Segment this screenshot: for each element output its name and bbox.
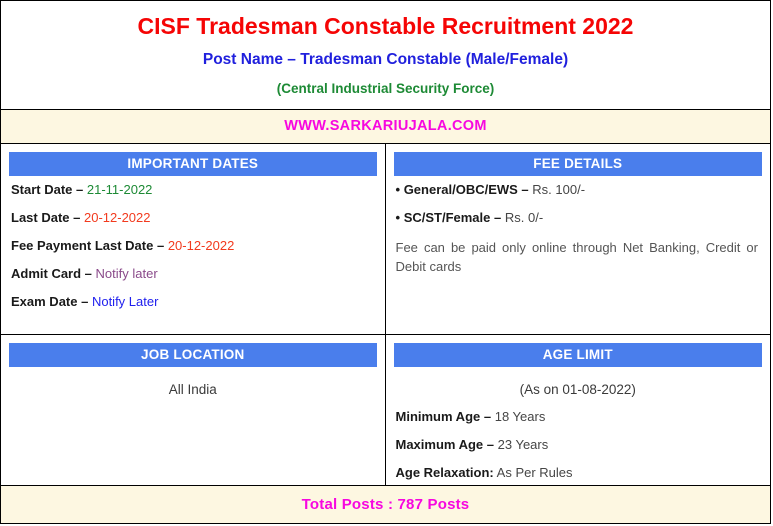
website-url-text: WWW.SARKARIUJALA.COM	[284, 118, 487, 134]
list-item: Minimum Age – 18 Years	[396, 409, 761, 425]
fee-details-heading: FEE DETAILS	[394, 152, 763, 176]
post-name-subtitle: Post Name – Tradesman Constable (Male/Fe…	[7, 49, 764, 71]
exam-date-value: Notify Later	[92, 294, 158, 309]
fee-details-body: • General/OBC/EWS – Rs. 100/- • SC/ST/Fe…	[394, 176, 763, 276]
admit-card-value: Notify later	[96, 266, 158, 281]
poster-header: CISF Tradesman Constable Recruitment 202…	[1, 1, 770, 110]
bullet-icon: •	[396, 210, 401, 225]
important-dates-body: Start Date – 21-11-2022 Last Date – 20-1…	[9, 176, 377, 310]
important-dates-heading: IMPORTANT DATES	[9, 152, 377, 176]
age-limit-cell: AGE LIMIT (As on 01-08-2022) Minimum Age…	[386, 335, 771, 485]
fee-details-cell: FEE DETAILS • General/OBC/EWS – Rs. 100/…	[386, 144, 771, 334]
list-item: Last Date – 20-12-2022	[11, 210, 375, 226]
maximum-age-label: Maximum Age –	[396, 437, 495, 452]
list-item: Start Date – 21-11-2022	[11, 182, 375, 198]
minimum-age-label: Minimum Age –	[396, 409, 492, 424]
website-banner: WWW.SARKARIUJALA.COM	[1, 110, 770, 144]
last-date-label: Last Date –	[11, 210, 80, 225]
job-location-body: All India	[9, 367, 377, 399]
age-relaxation-label: Age Relaxation:	[396, 465, 494, 480]
age-limit-heading: AGE LIMIT	[394, 343, 763, 367]
fee-payment-note: Fee can be paid only online through Net …	[396, 238, 761, 276]
page-title: CISF Tradesman Constable Recruitment 202…	[7, 11, 764, 41]
exam-date-label: Exam Date –	[11, 294, 88, 309]
age-limit-as-on-date: (As on 01-08-2022)	[396, 381, 761, 399]
reserved-fee-value: Rs. 0/-	[505, 210, 543, 225]
general-fee-label: General/OBC/EWS –	[404, 182, 529, 197]
info-row-bottom: JOB LOCATION All India AGE LIMIT (As on …	[1, 335, 770, 486]
age-limit-body: (As on 01-08-2022) Minimum Age – 18 Year…	[394, 367, 763, 481]
department-subtitle: (Central Industrial Security Force)	[7, 79, 764, 99]
fee-payment-last-date-label: Fee Payment Last Date –	[11, 238, 164, 253]
start-date-value: 21-11-2022	[87, 182, 153, 197]
total-posts-text: Total Posts : 787 Posts	[302, 496, 470, 513]
age-relaxation-value: As Per Rules	[497, 465, 573, 480]
recruitment-notice-poster: CISF Tradesman Constable Recruitment 202…	[0, 0, 771, 524]
job-location-cell: JOB LOCATION All India	[1, 335, 386, 485]
last-date-value: 20-12-2022	[84, 210, 151, 225]
info-row-top: IMPORTANT DATES Start Date – 21-11-2022 …	[1, 144, 770, 335]
admit-card-label: Admit Card –	[11, 266, 92, 281]
fee-payment-last-date-value: 20-12-2022	[168, 238, 235, 253]
general-fee-value: Rs. 100/-	[532, 182, 585, 197]
job-location-value: All India	[11, 381, 375, 399]
list-item: • General/OBC/EWS – Rs. 100/-	[396, 182, 761, 198]
start-date-label: Start Date –	[11, 182, 83, 197]
bullet-icon: •	[396, 182, 401, 197]
list-item: Maximum Age – 23 Years	[396, 437, 761, 453]
list-item: Age Relaxation: As Per Rules	[396, 465, 761, 481]
job-location-heading: JOB LOCATION	[9, 343, 377, 367]
maximum-age-value: 23 Years	[498, 437, 549, 452]
list-item: Exam Date – Notify Later	[11, 294, 375, 310]
list-item: • SC/ST/Female – Rs. 0/-	[396, 210, 761, 226]
list-item: Fee Payment Last Date – 20-12-2022	[11, 238, 375, 254]
minimum-age-value: 18 Years	[495, 409, 546, 424]
list-item: Admit Card – Notify later	[11, 266, 375, 282]
total-posts-banner: Total Posts : 787 Posts	[1, 486, 770, 523]
important-dates-cell: IMPORTANT DATES Start Date – 21-11-2022 …	[1, 144, 386, 334]
reserved-fee-label: SC/ST/Female –	[404, 210, 502, 225]
